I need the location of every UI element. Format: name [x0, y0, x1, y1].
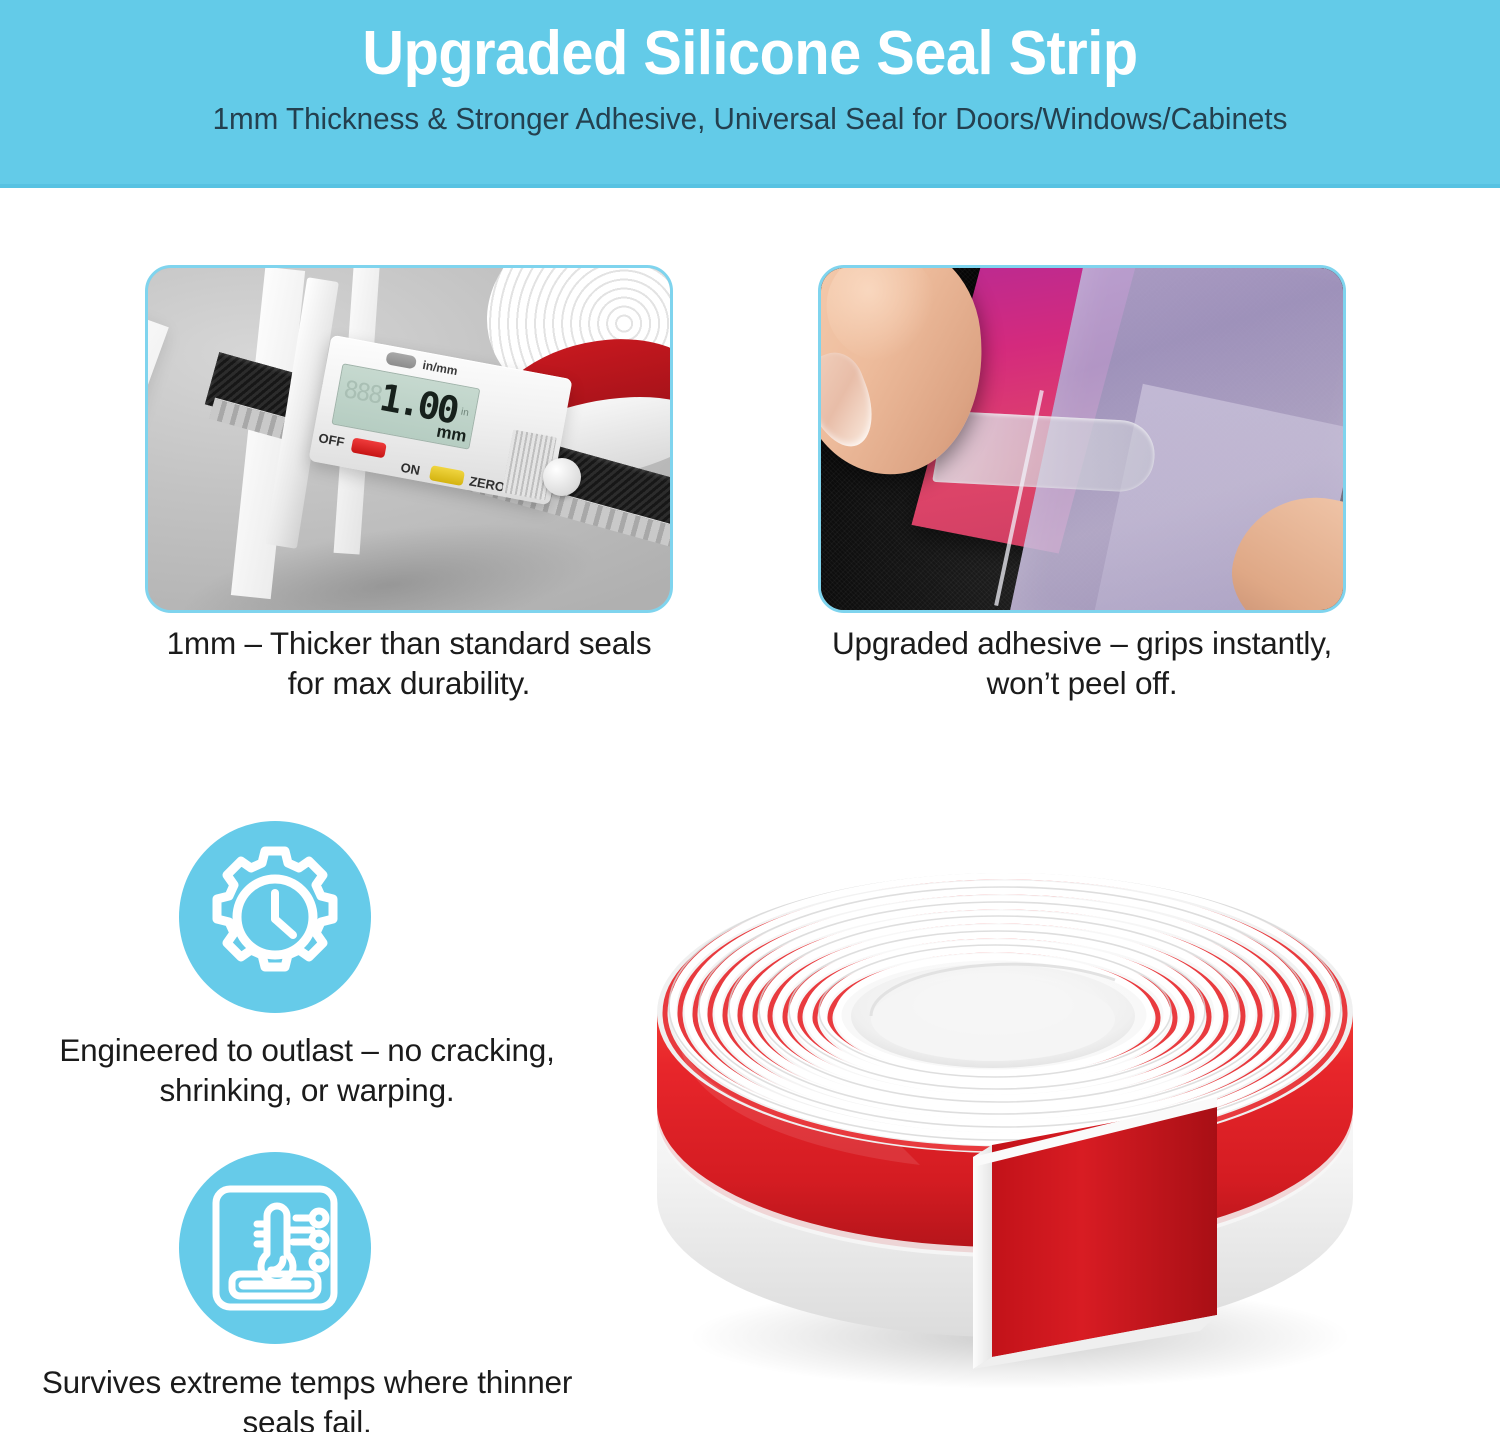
- adhesive-photo: [821, 268, 1343, 610]
- thermostat-icon: [179, 1152, 371, 1344]
- roll-core-inner: [871, 977, 1115, 1061]
- product-infographic: Upgraded Silicone Seal Strip 1mm Thickne…: [0, 0, 1500, 1432]
- caliper-on-label: ON: [399, 460, 421, 478]
- lcd-unit-mm: mm: [435, 422, 468, 447]
- roll-loose-end-adhesive: [992, 1103, 1217, 1357]
- caliper-lcd-display: 888 1.00 mm in: [331, 363, 480, 449]
- roll-loose-end-silicone-edge: [973, 1145, 992, 1369]
- caption-caliper-measurement: 1mm – Thicker than standard seals for ma…: [145, 623, 673, 703]
- caption-adhesive-peel: Upgraded adhesive – grips instantly, won…: [818, 623, 1346, 703]
- caliper-off-button[interactable]: [351, 437, 387, 458]
- lcd-ghost-segments: 888: [342, 375, 384, 409]
- seal-roll-illustration: [600, 845, 1410, 1405]
- feature-icon-durability: [179, 821, 371, 1013]
- panel-caliper-measurement: 80 90 100 110 120 3 4 in/mm 888 1.00 mm …: [145, 265, 673, 613]
- header-banner: Upgraded Silicone Seal Strip 1mm Thickne…: [0, 0, 1500, 188]
- panel-adhesive-peel: [818, 265, 1346, 613]
- gear-clock-icon: [179, 821, 371, 1013]
- caliper-lock-screw[interactable]: [543, 458, 581, 496]
- product-image-seal-roll: [600, 845, 1410, 1405]
- caliper-inmm-button[interactable]: [385, 351, 417, 369]
- page-title: Upgraded Silicone Seal Strip: [53, 18, 1448, 90]
- caliper-photo: 80 90 100 110 120 3 4 in/mm 888 1.00 mm …: [148, 268, 670, 610]
- page-subtitle: 1mm Thickness & Stronger Adhesive, Unive…: [23, 100, 1478, 138]
- caliper-inmm-label: in/mm: [421, 358, 458, 378]
- caption-temperature: Survives extreme temps where thinner sea…: [18, 1362, 596, 1432]
- caliper-on-button[interactable]: [429, 465, 465, 486]
- caption-durability: Engineered to outlast – no cracking, shr…: [18, 1030, 596, 1110]
- adhesive-liner-film: [932, 411, 1161, 493]
- hand-fingernail: [821, 345, 885, 456]
- feature-icon-temperature: [179, 1152, 371, 1344]
- caliper-off-label: OFF: [317, 430, 345, 449]
- lcd-unit-in: in: [460, 407, 470, 419]
